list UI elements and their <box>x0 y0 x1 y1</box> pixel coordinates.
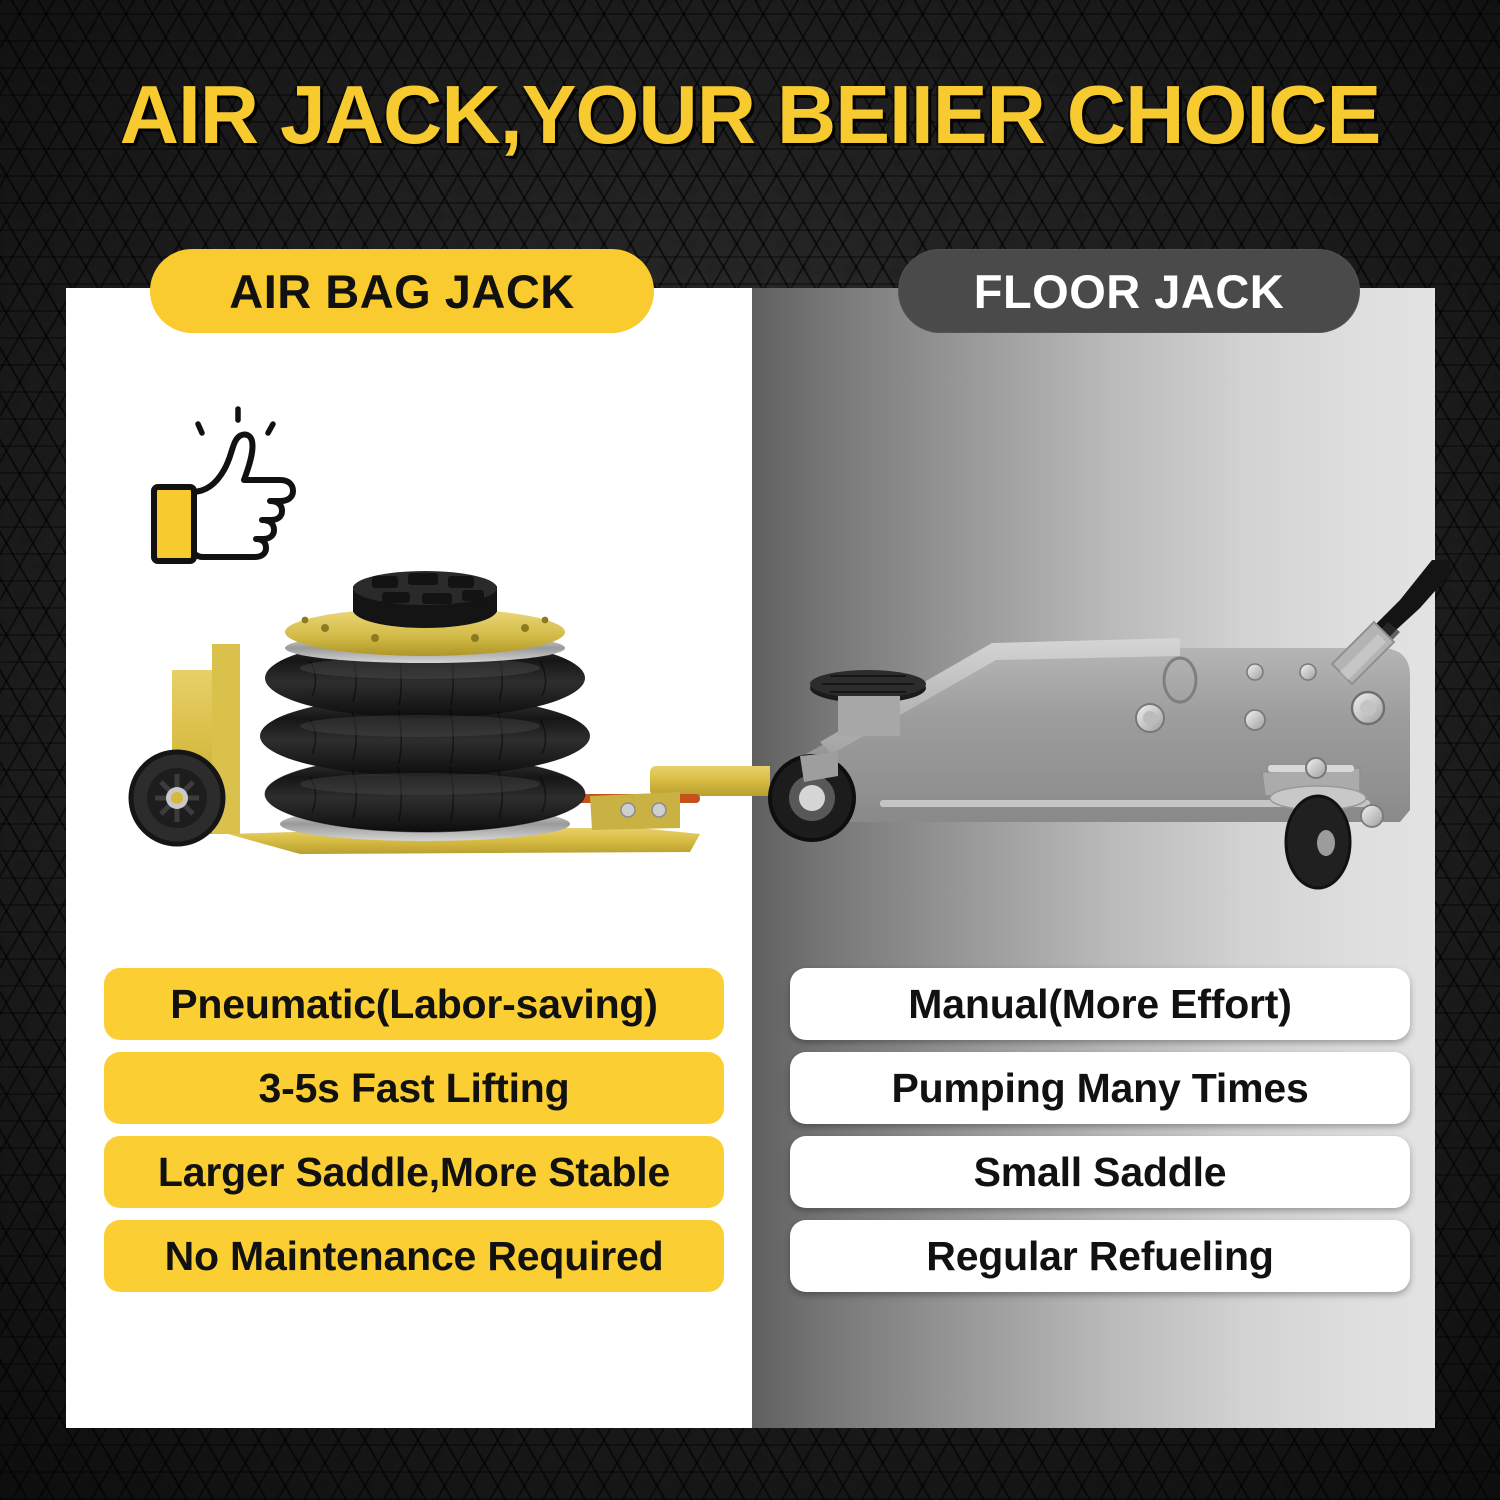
air-bag-jack-feature-list: Pneumatic(Labor-saving) 3-5s Fast Liftin… <box>104 968 724 1292</box>
feature-item: Small Saddle <box>790 1136 1410 1208</box>
feature-item: No Maintenance Required <box>104 1220 724 1292</box>
feature-item: Pumping Many Times <box>790 1052 1410 1124</box>
feature-item: Pneumatic(Labor-saving) <box>104 968 724 1040</box>
feature-item: Larger Saddle,More Stable <box>104 1136 724 1208</box>
feature-item: 3-5s Fast Lifting <box>104 1052 724 1124</box>
feature-item: Regular Refueling <box>790 1220 1410 1292</box>
page-title: AIR JACK,YOUR BEIIER CHOICE <box>8 72 1493 158</box>
air-bag-jack-image <box>120 566 770 886</box>
floor-jack-feature-list: Manual(More Effort) Pumping Many Times S… <box>790 968 1410 1292</box>
floor-jack-image <box>760 560 1450 890</box>
feature-item: Manual(More Effort) <box>790 968 1410 1040</box>
header-badge-air-bag-jack: AIR BAG JACK <box>150 249 654 333</box>
header-badge-floor-jack: FLOOR JACK <box>898 249 1360 333</box>
thumbs-up-icon <box>140 396 340 576</box>
